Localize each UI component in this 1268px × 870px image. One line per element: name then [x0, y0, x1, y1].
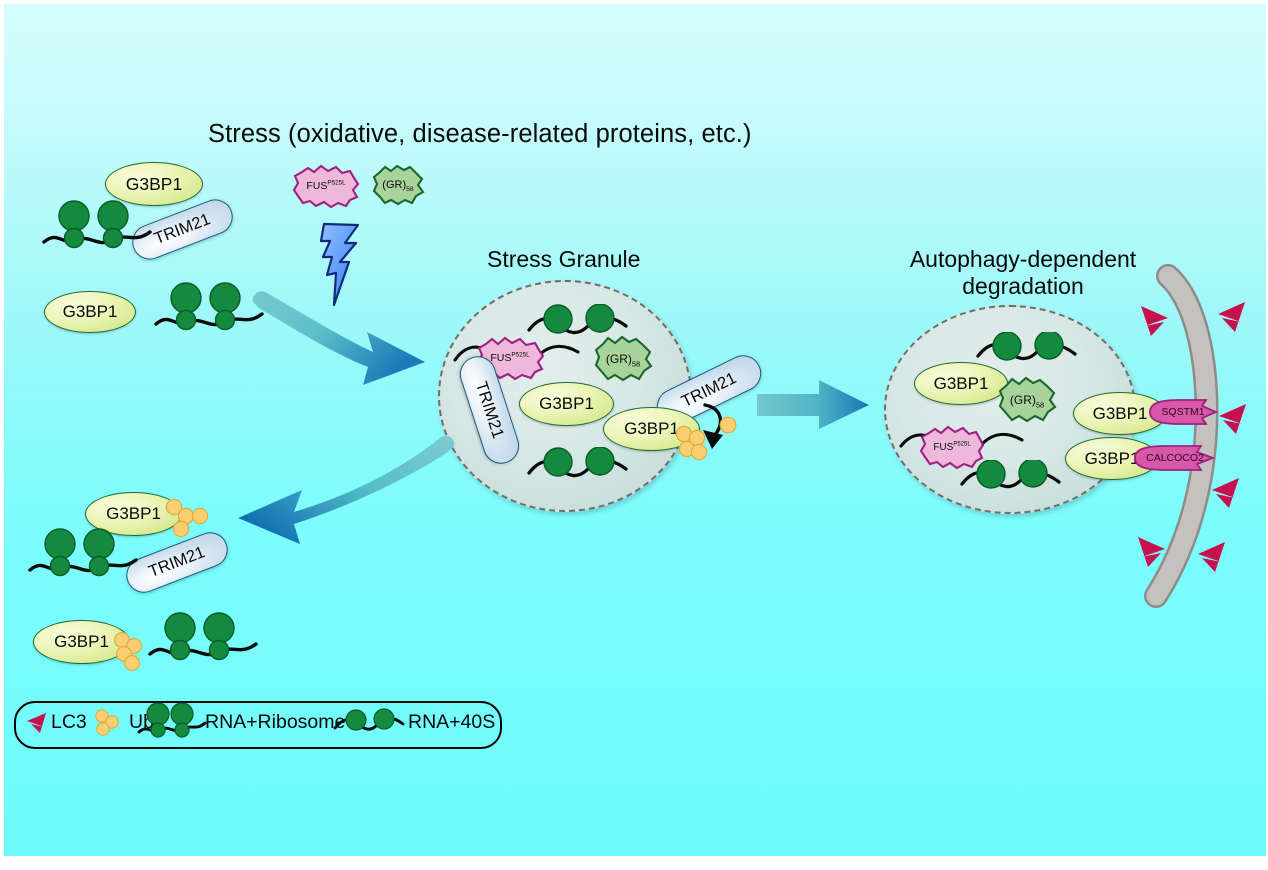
fus-label: FUSP525L — [933, 442, 970, 453]
rna-ribosome-icon — [136, 702, 210, 744]
g3bp1-label: G3BP1 — [126, 174, 182, 195]
lc3-arrow-icon — [1189, 540, 1229, 574]
lc3-arrow-icon — [1203, 476, 1243, 510]
rna-ribosome-icon — [146, 612, 271, 668]
sqstm1-label: SQSTM1 — [1161, 406, 1204, 418]
rna-ribosome-icon — [40, 200, 165, 256]
figure-canvas: Stress (oxidative, disease-related prote… — [0, 0, 1268, 870]
legend-label-rna-40s: RNA+40S — [408, 711, 495, 734]
legend-label-rna-ribosome: RNA+Ribosome — [205, 711, 345, 734]
lc3-arrow-icon — [1136, 535, 1176, 569]
g3bp1-label: G3BP1 — [624, 419, 679, 439]
fus-protein: FUSP525L — [919, 424, 985, 470]
rna-ribosome-icon — [26, 528, 151, 584]
gr-protein: (GR)58 — [996, 375, 1058, 425]
stress-title: Stress (oxidative, disease-related prote… — [208, 120, 752, 149]
legend-label-lc3: LC3 — [51, 711, 87, 734]
gr-protein: (GR)58 — [371, 163, 425, 207]
fus-label: FUSP525L — [490, 352, 529, 364]
rna-40s-icon — [333, 708, 411, 738]
g3bp1-label: G3BP1 — [106, 504, 161, 524]
lc3-arrow-icon — [1139, 304, 1179, 338]
return-curved-arrow — [232, 432, 462, 547]
lc3-arrow-icon — [1209, 300, 1249, 334]
g3bp1-label: G3BP1 — [539, 394, 594, 414]
g3bp1-label: G3BP1 — [63, 302, 118, 322]
gr-label: (GR)58 — [606, 352, 640, 366]
ubiquitin-icon — [718, 415, 740, 437]
autophagy-title: Autophagy-dependent degradation — [903, 246, 1143, 300]
lc3-arrow-icon — [22, 711, 50, 735]
rna-40s-icon — [975, 332, 1093, 368]
stress-granule-title: Stress Granule — [487, 246, 640, 273]
gr-label: (GR)58 — [1010, 393, 1044, 407]
fus-label: FUSP525L — [306, 180, 345, 192]
forward-curved-arrow — [247, 260, 447, 395]
g3bp1-protein: G3BP1 — [914, 362, 1008, 405]
g3bp1-protein: G3BP1 — [519, 382, 614, 426]
g3bp1-label: G3BP1 — [934, 374, 989, 394]
sqstm1-receptor: SQSTM1 — [1140, 398, 1226, 426]
ubiquitin-chain-icon — [93, 708, 127, 740]
calcoco2-receptor: CALCOCO2 — [1127, 444, 1223, 472]
gr-label: (GR)58 — [382, 179, 413, 191]
rna-40s-icon — [526, 447, 644, 483]
g3bp1-label: G3BP1 — [54, 632, 109, 652]
gr-protein: (GR)58 — [592, 334, 654, 384]
g3bp1-protein: G3BP1 — [44, 291, 136, 333]
middle-arrow — [757, 378, 873, 432]
calcoco2-label: CALCOCO2 — [1146, 452, 1204, 464]
fus-protein: FUSP525L — [292, 163, 360, 209]
